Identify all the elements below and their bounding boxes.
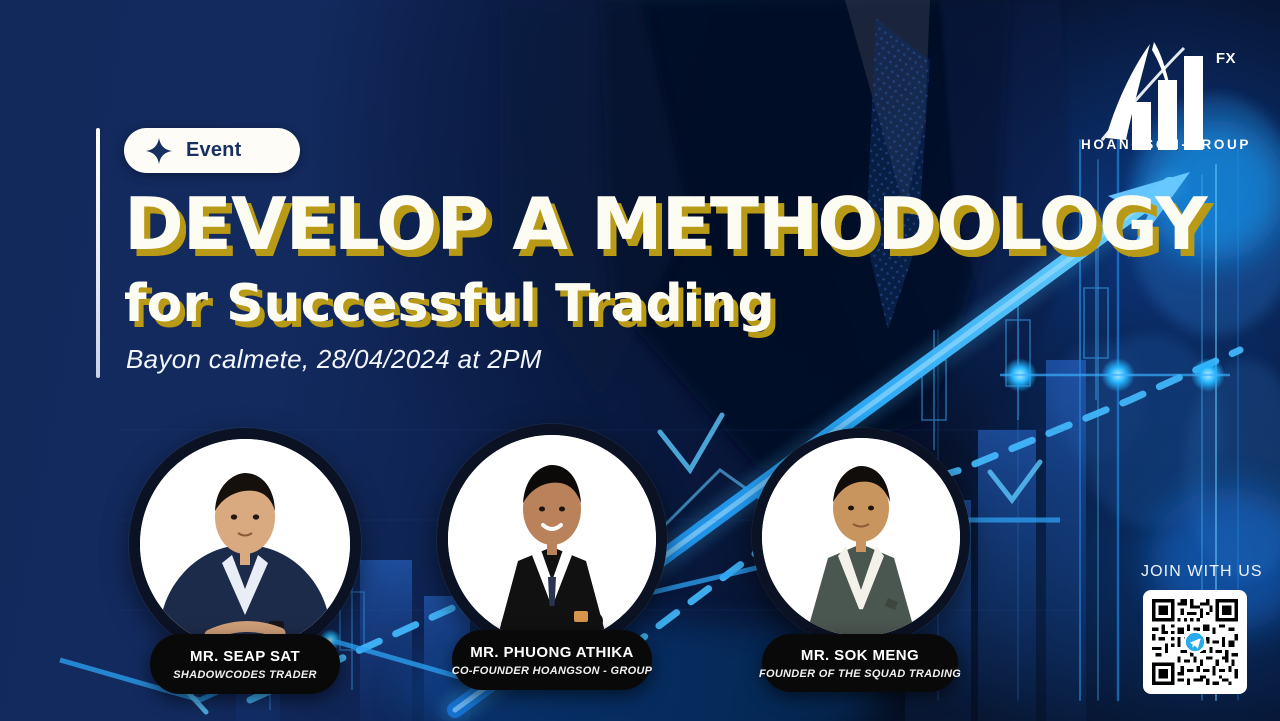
speaker-role-3: FOUNDER OF THE SQUAD TRADING: [759, 668, 961, 680]
accent-bar: [96, 128, 100, 378]
speaker-nameplate-3: MR. SOK MENG FOUNDER OF THE SQUAD TRADIN…: [762, 634, 958, 692]
company-logo: FX HOANGSON-GROUP: [1080, 22, 1252, 158]
sparkle-star-icon: [146, 138, 172, 164]
event-badge-label: Event: [186, 139, 241, 162]
headline-primary: DEVELOP A METHODOLOGY: [124, 182, 1207, 266]
telegram-qr-code[interactable]: [1143, 590, 1247, 694]
event-poster: Event DEVELOP A METHODOLOGY for Successf…: [0, 0, 1280, 721]
headline-secondary: for Successful Trading: [124, 272, 775, 336]
speaker-role-2: CO-FOUNDER HOANGSON - GROUP: [452, 665, 653, 677]
speaker-name-2: MR. PHUONG ATHIKA: [470, 644, 633, 661]
qr-code-icon: [1149, 596, 1241, 688]
join-with-us-label: JOIN WITH US: [1141, 563, 1263, 581]
portrait-photo-3: [762, 438, 960, 636]
logo-fx-superscript: FX: [1216, 50, 1236, 67]
portrait-photo-2: [448, 435, 656, 643]
event-details: Bayon calmete, 28/04/2024 at 2PM: [126, 342, 542, 376]
portrait-photo-1: [140, 439, 350, 649]
logo-wordmark: HOANGSON-GROUP: [1080, 137, 1252, 152]
speaker-name-3: MR. SOK MENG: [801, 647, 919, 664]
event-badge: Event: [124, 128, 300, 173]
speaker-role-1: SHADOWCODES TRADER: [173, 669, 317, 681]
speaker-nameplate-2: MR. PHUONG ATHIKA CO-FOUNDER HOANGSON - …: [452, 630, 652, 690]
speaker-nameplate-1: MR. SEAP SAT SHADOWCODES TRADER: [150, 634, 340, 694]
speaker-name-1: MR. SEAP SAT: [190, 648, 300, 665]
